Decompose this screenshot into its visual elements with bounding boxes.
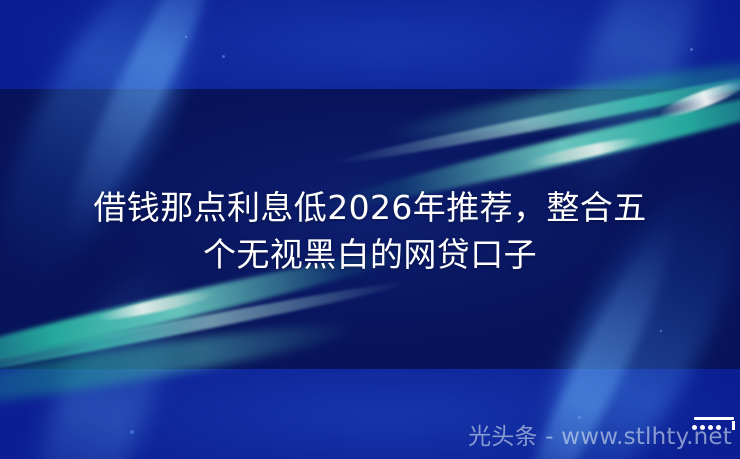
promo-banner: 借钱那点利息低2026年推荐，整合五 个无视黑白的网贷口子 光头条 - www.…: [0, 0, 740, 459]
background-band-top: [0, 0, 740, 89]
headline-line-1: 借钱那点利息低2026年推荐，整合五: [93, 188, 646, 227]
bar-and-dots-icon: [692, 417, 736, 437]
bar-and-dots-icon-bar: [694, 417, 734, 420]
headline-line-2: 个无视黑白的网贷口子: [203, 235, 537, 274]
bar-and-dots-icon-tick: [732, 421, 735, 430]
banner-headline: 借钱那点利息低2026年推荐，整合五 个无视黑白的网贷口子: [0, 184, 740, 278]
bar-and-dots-icon-dots: [692, 425, 721, 430]
